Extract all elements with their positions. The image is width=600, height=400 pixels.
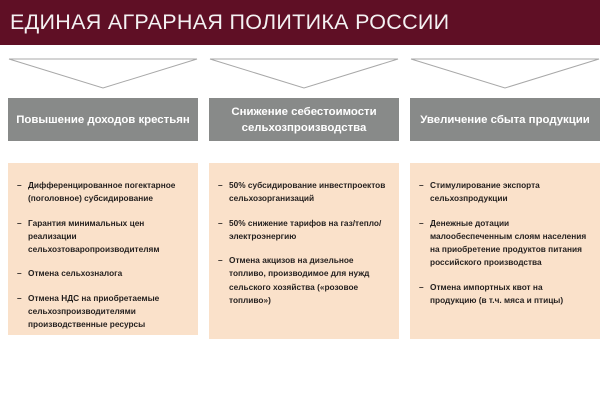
list-item-text: 50% снижение тарифов на газ/тепло/электр… (229, 218, 381, 241)
list-item: – Гарантия минимальных цен реализации се… (17, 217, 189, 257)
chevron-down-icon (410, 58, 600, 90)
list-item: – Отмена акцизов на дизельное топливо, п… (218, 254, 390, 307)
list-item-text: 50% субсидирование инвестпроектов сельхо… (229, 180, 385, 203)
list-item-text: Отмена сельхозналога (28, 268, 122, 278)
bullet-dash: – (17, 179, 22, 192)
chevron-down-icon (8, 58, 198, 90)
bullet-dash: – (17, 217, 22, 230)
bullet-dash: – (17, 267, 22, 280)
page-title: ЕДИНАЯ АГРАРНАЯ ПОЛИТИКА РОССИИ (10, 9, 449, 36)
list-item: – Отмена сельхозналога (17, 267, 189, 280)
bullet-dash: – (218, 179, 223, 192)
list-item: – 50% субсидирование инвестпроектов сель… (218, 179, 390, 206)
column-1-header-label: Повышение доходов крестьян (10, 112, 196, 128)
bullet-dash: – (419, 179, 424, 192)
list-item-text: Дифференцированное погектарное (поголовн… (28, 180, 175, 203)
list-item-text: Гарантия минимальных цен реализации сель… (28, 218, 159, 255)
bullet-dash: – (419, 217, 424, 230)
bullet-dash: – (218, 217, 223, 230)
column-3-header-label: Увеличение сбыта продукции (414, 112, 596, 128)
bullet-dash: – (17, 292, 22, 305)
column-3: Увеличение сбыта продукции – Стимулирова… (410, 45, 600, 345)
columns-container: Повышение доходов крестьян – Дифференцир… (0, 45, 600, 400)
list-item: – Денежные дотации малообеспеченным слоя… (419, 217, 591, 270)
list-item-text: Денежные дотации малообеспеченным слоям … (430, 218, 586, 268)
list-item: – Дифференцированное погектарное (поголо… (17, 179, 189, 206)
list-item-text: Отмена акцизов на дизельное топливо, про… (229, 255, 369, 305)
column-3-list: – Стимулирование экспорта сельхозпродукц… (419, 179, 591, 307)
list-item-text: Стимулирование экспорта сельхозпродукции (430, 180, 540, 203)
column-2-header: Снижение себестоимости сельхозпроизводст… (209, 98, 399, 141)
list-item: – Отмена НДС на приобретаемые сельхозпро… (17, 292, 189, 332)
column-3-body: – Стимулирование экспорта сельхозпродукц… (410, 163, 600, 339)
list-item-text: Отмена импортных квот на продукцию (в т.… (430, 282, 563, 305)
column-1: Повышение доходов крестьян – Дифференцир… (8, 45, 198, 345)
column-2-body: – 50% субсидирование инвестпроектов сель… (209, 163, 399, 339)
title-bar: ЕДИНАЯ АГРАРНАЯ ПОЛИТИКА РОССИИ (0, 0, 600, 45)
list-item: – 50% снижение тарифов на газ/тепло/элек… (218, 217, 390, 244)
column-2-header-label: Снижение себестоимости сельхозпроизводст… (209, 104, 399, 136)
column-2: Снижение себестоимости сельхозпроизводст… (209, 45, 399, 345)
chevron-down-icon (209, 58, 399, 90)
column-1-header: Повышение доходов крестьян (8, 98, 198, 141)
list-item: – Отмена импортных квот на продукцию (в … (419, 281, 591, 308)
column-1-list: – Дифференцированное погектарное (поголо… (17, 179, 189, 332)
bullet-dash: – (218, 254, 223, 267)
list-item-text: Отмена НДС на приобретаемые сельхозпроиз… (28, 293, 159, 330)
list-item: – Стимулирование экспорта сельхозпродукц… (419, 179, 591, 206)
column-2-list: – 50% субсидирование инвестпроектов сель… (218, 179, 390, 307)
column-1-body: – Дифференцированное погектарное (поголо… (8, 163, 198, 335)
bullet-dash: – (419, 281, 424, 294)
column-3-header: Увеличение сбыта продукции (410, 98, 600, 141)
